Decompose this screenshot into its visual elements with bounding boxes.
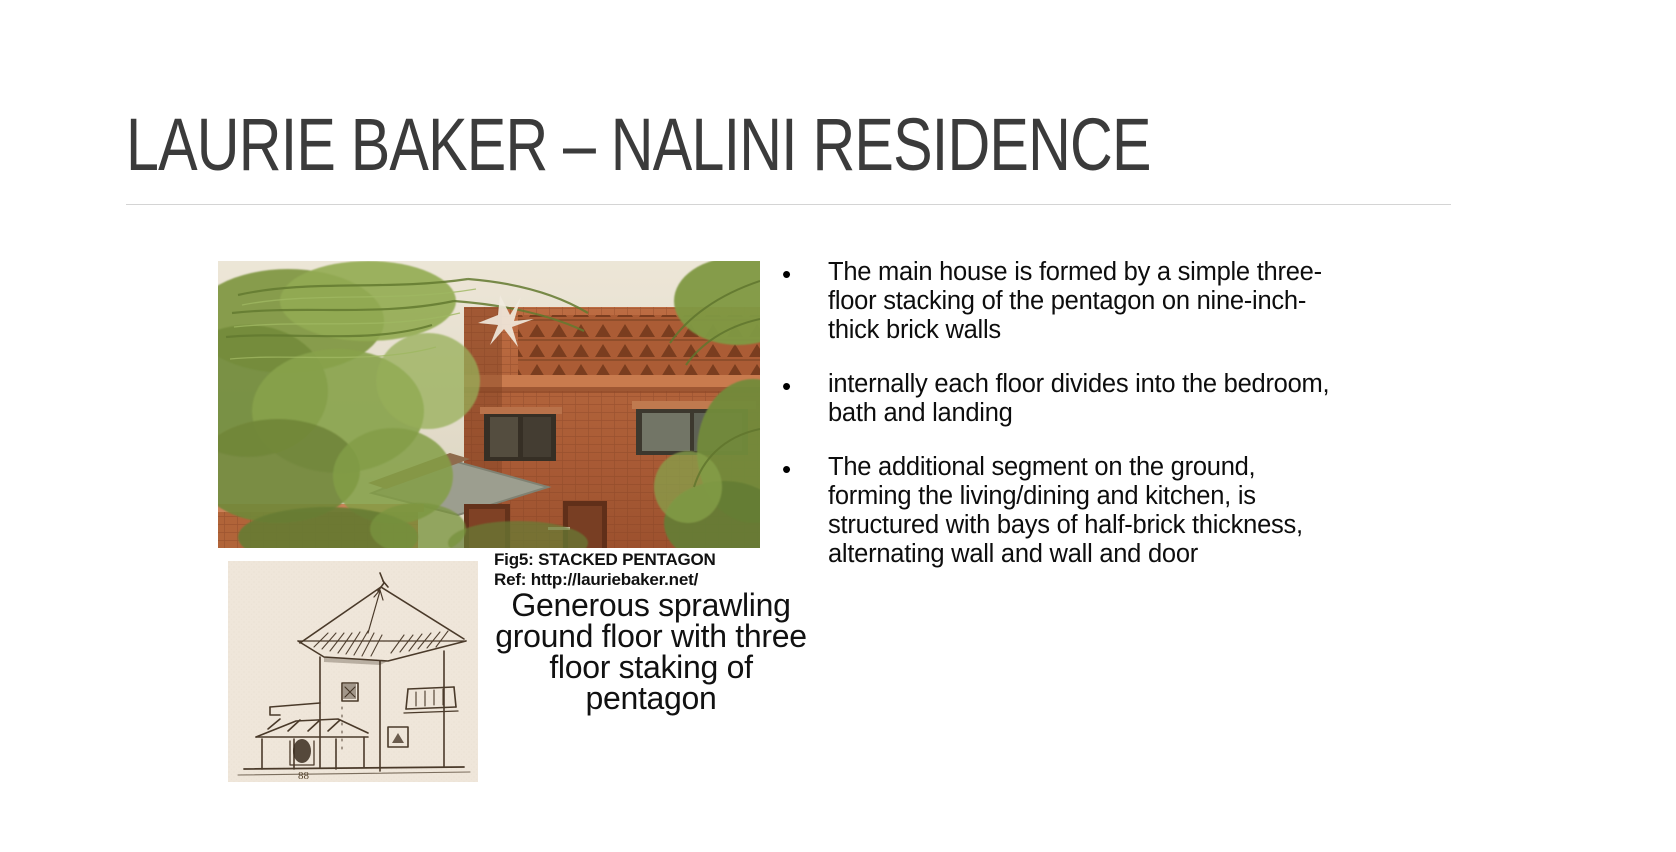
list-item: • The main house is formed by a simple t… [782,258,1342,345]
bullet-text: The main house is formed by a simple thr… [828,258,1342,345]
stacked-pentagon-brick-house-photo [218,261,760,548]
title-divider [126,204,1451,205]
list-item: • internally each floor divides into the… [782,370,1342,428]
ground-floor-description: Generous sprawling ground floor with thr… [492,590,810,714]
bullet-list: • The main house is formed by a simple t… [782,258,1342,569]
figure-caption: Fig5: STACKED PENTAGON Ref: http://lauri… [494,550,794,590]
figure-caption-title: Fig5: STACKED PENTAGON [494,550,794,570]
bullet-point-icon: • [782,370,828,401]
list-item: • The additional segment on the ground, … [782,453,1342,569]
bullet-point-icon: • [782,258,828,289]
bullet-point-icon: • [782,453,828,484]
pavilion-line-sketch: 88 [228,561,478,782]
sketch-page-number: 88 [298,770,310,782]
presentation-slide: LAURIE BAKER – NALINI RESIDENCE [0,0,1676,852]
bullet-text: The additional segment on the ground, fo… [828,453,1342,569]
bullet-text: internally each floor divides into the b… [828,370,1342,428]
page-title: LAURIE BAKER – NALINI RESIDENCE [126,104,1198,186]
